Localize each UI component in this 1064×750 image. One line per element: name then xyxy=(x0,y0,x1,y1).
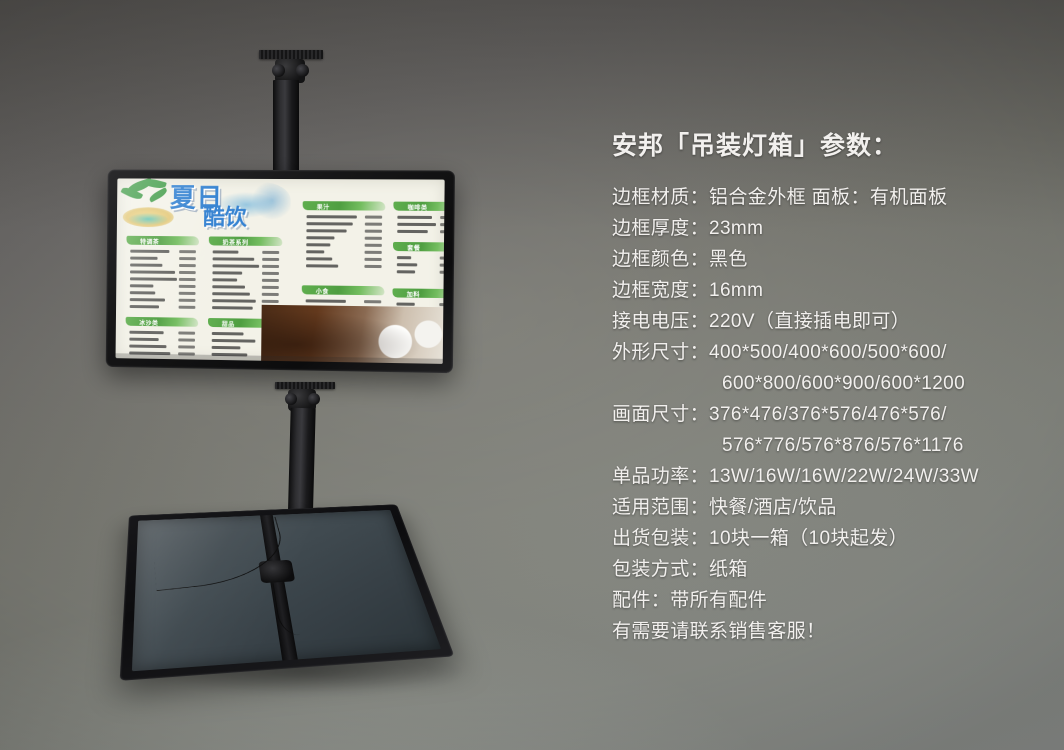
swivel-knob-left-lower xyxy=(285,393,297,405)
spec-line: 适用范围：快餐/酒店/饮品 xyxy=(612,492,1032,523)
spec-line: 接电电压：220V（直接插电即可） xyxy=(612,306,1032,337)
menu-section-label: 冰沙类 xyxy=(139,318,158,327)
coffee-photo xyxy=(261,305,443,364)
menu-column-6: 咖啡类 xyxy=(393,202,445,236)
spec-line: 边框颜色：黑色 xyxy=(612,244,1032,275)
menu-row xyxy=(126,303,199,311)
menu-display-surface: 夏日 酷饮 特调茶 xyxy=(116,178,445,363)
spec-line: 包装方式：纸箱 xyxy=(612,554,1032,585)
menu-headline-secondary: 酷饮 xyxy=(203,208,247,230)
menu-column-2: 奶茶系列 xyxy=(208,236,282,312)
spec-line: 边框材质：铝合金外框 面板：有机面板 xyxy=(612,182,1032,213)
menu-section-header: 套餐 xyxy=(393,242,445,252)
menu-section-header: 咖啡类 xyxy=(393,202,444,211)
menu-section-header: 小食 xyxy=(302,285,385,295)
menu-row xyxy=(393,228,445,236)
menu-section-label: 小食 xyxy=(316,286,329,295)
menu-section-header: 冰沙类 xyxy=(126,317,199,327)
ceiling-mount-plate xyxy=(259,50,323,59)
menu-section-label: 特调茶 xyxy=(140,237,159,246)
spec-line: 边框宽度：16mm xyxy=(612,275,1032,306)
menu-row xyxy=(302,262,385,270)
menu-section-label: 咖啡类 xyxy=(408,203,428,212)
swivel-knob-left-upper xyxy=(272,64,285,77)
menu-section-label: 甜品 xyxy=(222,319,235,328)
aluminium-frame-black: 夏日 酷饮 特调茶 xyxy=(106,170,455,374)
swivel-knob-right-lower xyxy=(308,393,320,405)
power-cable xyxy=(151,517,292,591)
menu-headline-artwork: 夏日 酷饮 xyxy=(119,179,285,236)
menu-row xyxy=(393,268,445,276)
rear-panel-surface xyxy=(132,510,441,671)
menu-section-header: 果汁 xyxy=(303,201,386,210)
spec-line-continuation: 600*800/600*900/600*1200 xyxy=(612,368,1032,399)
lower-plate-texture xyxy=(275,382,335,389)
spec-line-continuation: 576*776/576*876/576*1176 xyxy=(612,430,1032,461)
rear-mount-strip xyxy=(260,515,298,661)
palm-leaf-icon xyxy=(148,187,169,202)
spec-text-block: 安邦「吊装灯箱」参数： 边框材质：铝合金外框 面板：有机面板 边框厚度：23mm… xyxy=(612,126,1032,647)
menu-section-label: 果汁 xyxy=(317,202,330,211)
spec-title: 安邦「吊装灯箱」参数： xyxy=(612,126,1032,162)
light-box-rear xyxy=(120,504,455,681)
menu-section-header: 加料 xyxy=(392,288,444,298)
menu-section-label: 加料 xyxy=(407,290,420,299)
spec-line-list: 边框材质：铝合金外框 面板：有机面板 边框厚度：23mm 边框颜色：黑色 边框宽… xyxy=(612,182,1032,647)
water-shape xyxy=(129,213,168,225)
spec-line: 配件：带所有配件 xyxy=(612,585,1032,616)
product-photo-scene: 夏日 酷饮 特调茶 xyxy=(0,0,1064,750)
spec-line: 画面尺寸：376*476/376*576/476*576/ xyxy=(612,399,1032,430)
spec-line: 单品功率：13W/16W/16W/22W/24W/33W xyxy=(612,461,1032,492)
power-cable-tail xyxy=(273,581,330,636)
menu-column-9: 加料 xyxy=(392,288,444,308)
spec-line: 边框厚度：23mm xyxy=(612,213,1032,244)
menu-section-label: 套餐 xyxy=(407,243,420,252)
menu-section-header: 奶茶系列 xyxy=(209,236,283,246)
spec-line: 有需要请联系销售客服！ xyxy=(612,616,1032,647)
spec-line: 出货包装：10块一箱（10块起发） xyxy=(612,523,1032,554)
menu-column-1: 特调茶 xyxy=(126,236,199,311)
menu-section-header: 特调茶 xyxy=(126,236,199,246)
spec-line: 外形尺寸：400*500/400*600/500*600/ xyxy=(612,337,1032,368)
drop-pole-upper xyxy=(273,80,299,180)
ceiling-plate-texture xyxy=(259,50,323,59)
swivel-knob-right-upper xyxy=(296,64,309,77)
rear-bracket-joint xyxy=(259,560,296,583)
rear-aluminium-frame xyxy=(120,504,455,681)
menu-section-label: 奶茶系列 xyxy=(223,238,249,247)
lower-mount-plate xyxy=(275,382,335,389)
menu-column-5: 果汁 xyxy=(302,201,385,270)
menu-column-8: 套餐 xyxy=(393,242,445,276)
light-box-front: 夏日 酷饮 特调茶 xyxy=(106,170,455,374)
